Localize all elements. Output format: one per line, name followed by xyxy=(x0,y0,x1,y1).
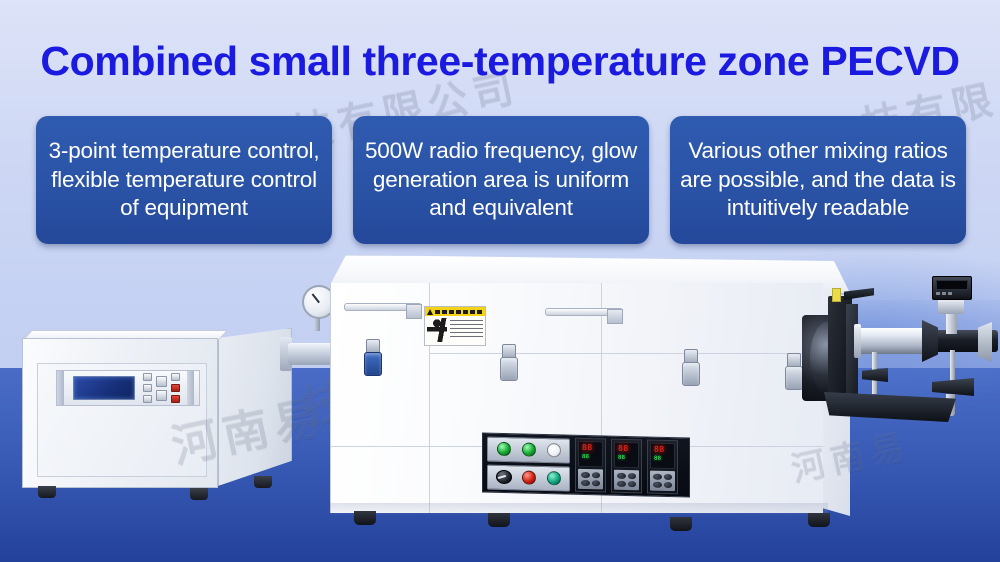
keypad-button[interactable] xyxy=(581,480,590,486)
button-cluster[interactable] xyxy=(143,373,180,403)
stop-button-red[interactable] xyxy=(522,470,536,484)
process-value: 88 xyxy=(618,445,635,453)
controller-keypad[interactable] xyxy=(650,471,675,492)
downpipe xyxy=(950,350,955,384)
start-button-green[interactable] xyxy=(547,471,561,485)
clamp-knob[interactable] xyxy=(862,368,888,382)
zone-2-temperature-controller[interactable]: 88 88 xyxy=(611,439,642,494)
product-banner: 技有限公司 技有限 技有限公司 xyxy=(0,0,1000,562)
panel-button[interactable] xyxy=(143,373,152,381)
cabinet-foot xyxy=(254,476,272,488)
warning-text-lines xyxy=(450,318,483,342)
gauge-button[interactable] xyxy=(948,292,952,295)
keypad-button[interactable] xyxy=(664,482,673,488)
end-flange xyxy=(978,322,992,362)
zone-1-temperature-controller[interactable]: 88 88 xyxy=(575,438,606,493)
gauge-button[interactable] xyxy=(936,292,940,295)
indicator-lamp-row xyxy=(487,436,570,463)
panel-button-alarm[interactable] xyxy=(171,384,180,392)
digital-vacuum-gauge[interactable] xyxy=(932,276,972,300)
furnace-foot xyxy=(488,513,510,527)
indicator-lamp-green xyxy=(497,442,511,456)
door-handle[interactable] xyxy=(344,303,422,319)
furnace-foot xyxy=(670,517,692,531)
furnace-control-panel[interactable]: 88 88 88 88 xyxy=(482,432,690,497)
set-value: 88 xyxy=(618,455,635,461)
cabinet-inner-panel xyxy=(37,363,207,477)
panel-button[interactable] xyxy=(143,395,152,403)
set-value: 88 xyxy=(654,456,671,462)
vacuum-flange-assembly xyxy=(828,282,1000,462)
yellow-tag-label xyxy=(832,288,841,302)
valve-body xyxy=(938,298,964,314)
feature-box-row: 3-point temperature control, flexible te… xyxy=(36,116,966,248)
switch-cluster[interactable] xyxy=(487,436,570,491)
hot-surface-pictogram-icon xyxy=(427,318,447,342)
feature-box-radio-frequency: 500W radio frequency, glow generation ar… xyxy=(353,116,649,244)
keypad-button[interactable] xyxy=(628,481,637,487)
rack-ear-left xyxy=(57,371,64,405)
gas-control-cabinet xyxy=(22,330,292,502)
latch-lever xyxy=(500,357,518,381)
feature-text: 3-point temperature control, flexible te… xyxy=(46,137,322,223)
feature-text: 500W radio frequency, glow generation ar… xyxy=(363,137,639,223)
controller-keypad[interactable] xyxy=(578,469,603,490)
switch-row[interactable] xyxy=(487,464,570,491)
selector-knob[interactable] xyxy=(496,470,512,484)
panel-seam xyxy=(429,353,823,354)
indicator-lamp-white xyxy=(547,443,561,457)
latch-lever xyxy=(364,352,382,376)
keypad-button[interactable] xyxy=(653,482,662,488)
controller-display: 88 88 xyxy=(650,443,675,470)
controller-display: 88 88 xyxy=(614,442,639,469)
gauge-buttons[interactable] xyxy=(936,292,968,295)
keypad-button[interactable] xyxy=(592,472,601,478)
feature-text: Various other mixing ratios are possible… xyxy=(680,137,956,223)
warning-label-body xyxy=(425,316,485,344)
panel-button[interactable] xyxy=(156,376,167,387)
feature-box-mixing-ratio: Various other mixing ratios are possible… xyxy=(670,116,966,244)
rack-ear-right xyxy=(187,371,194,405)
warning-label-header xyxy=(425,307,485,316)
cabinet-foot xyxy=(38,486,56,498)
button-column[interactable] xyxy=(171,373,180,403)
tube-collar xyxy=(854,324,861,358)
feature-box-temperature-control: 3-point temperature control, flexible te… xyxy=(36,116,332,244)
warning-triangle-icon xyxy=(427,309,433,315)
toggle-latch[interactable] xyxy=(364,339,382,379)
tube-furnace-body: 88 88 88 88 xyxy=(330,255,850,545)
furnace-base-shadow xyxy=(330,503,828,515)
keypad-button[interactable] xyxy=(664,474,673,480)
panel-button[interactable] xyxy=(171,373,180,381)
latch-lever xyxy=(785,366,803,390)
gauge-display xyxy=(936,280,968,290)
latch-lever xyxy=(682,362,700,386)
zone-3-temperature-controller[interactable]: 88 88 xyxy=(647,439,678,494)
lcd-display xyxy=(73,376,135,400)
panel-button[interactable] xyxy=(156,390,167,401)
controller-keypad[interactable] xyxy=(614,470,639,491)
cabinet-foot xyxy=(190,488,208,500)
keypad-button[interactable] xyxy=(653,474,662,480)
toggle-latch[interactable] xyxy=(500,344,518,384)
warning-heading-text xyxy=(435,310,483,314)
gauge-button[interactable] xyxy=(942,292,946,295)
quartz-tube xyxy=(856,328,932,354)
cabinet-front-panel xyxy=(22,338,218,488)
keypad-button[interactable] xyxy=(617,481,626,487)
controller-display: 88 88 xyxy=(578,441,603,468)
set-value: 88 xyxy=(582,454,599,460)
handle-recess xyxy=(607,309,623,324)
tube-clamp[interactable] xyxy=(922,320,938,362)
button-column[interactable] xyxy=(156,376,167,401)
process-value: 88 xyxy=(582,444,599,452)
furnace-foot xyxy=(808,513,830,527)
keypad-button[interactable] xyxy=(628,473,637,479)
support-base xyxy=(824,392,956,422)
door-handle[interactable] xyxy=(545,308,623,324)
indicator-lamp-green xyxy=(522,442,536,456)
process-value: 88 xyxy=(654,446,671,454)
page-title: Combined small three-temperature zone PE… xyxy=(0,38,1000,85)
panel-button-alarm[interactable] xyxy=(171,395,180,403)
button-column[interactable] xyxy=(143,373,152,403)
toggle-latch[interactable] xyxy=(785,353,803,393)
handle-recess xyxy=(406,304,422,319)
mfc-rack-unit[interactable] xyxy=(56,370,200,406)
keypad-button[interactable] xyxy=(617,473,626,479)
support-hook xyxy=(844,288,874,300)
panel-button[interactable] xyxy=(143,384,152,392)
warning-label xyxy=(424,306,486,346)
furnace-foot xyxy=(354,511,376,525)
keypad-button[interactable] xyxy=(592,480,601,486)
toggle-latch[interactable] xyxy=(682,349,700,389)
keypad-button[interactable] xyxy=(581,472,590,478)
